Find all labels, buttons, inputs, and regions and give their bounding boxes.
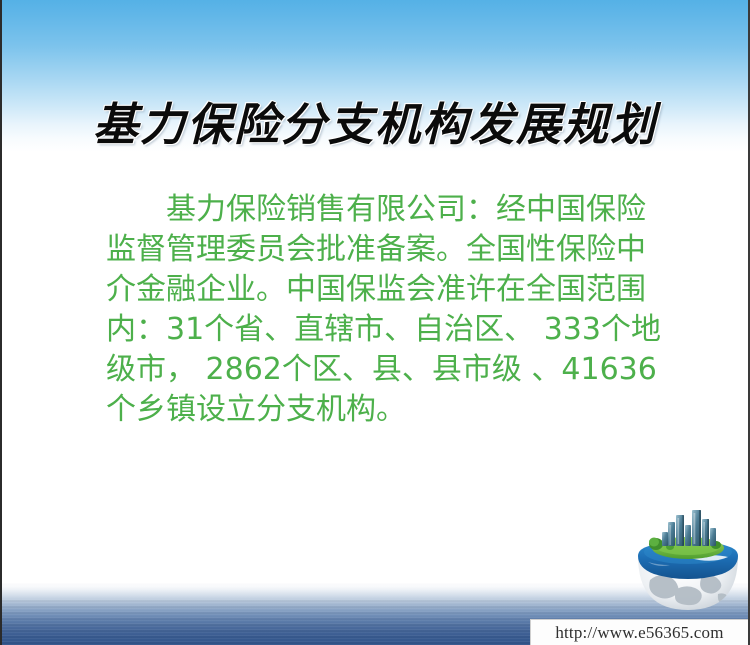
watermark-url-text: http://www.e56365.com — [555, 623, 723, 643]
watermark-url-box: http://www.e56365.com — [530, 619, 748, 645]
globe-city-skyline — [662, 510, 716, 546]
slide-canvas: 基力保险分支机构发展规划 基力保险销售有限公司：经中国保险监督管理委员会批准备案… — [0, 0, 750, 645]
slide-title: 基力保险分支机构发展规划 — [2, 88, 748, 153]
earth-city-globe-icon — [630, 506, 746, 616]
slide-body-paragraph: 基力保险销售有限公司：经中国保险监督管理委员会批准备案。全国性保险中介金融企业。… — [106, 190, 668, 430]
